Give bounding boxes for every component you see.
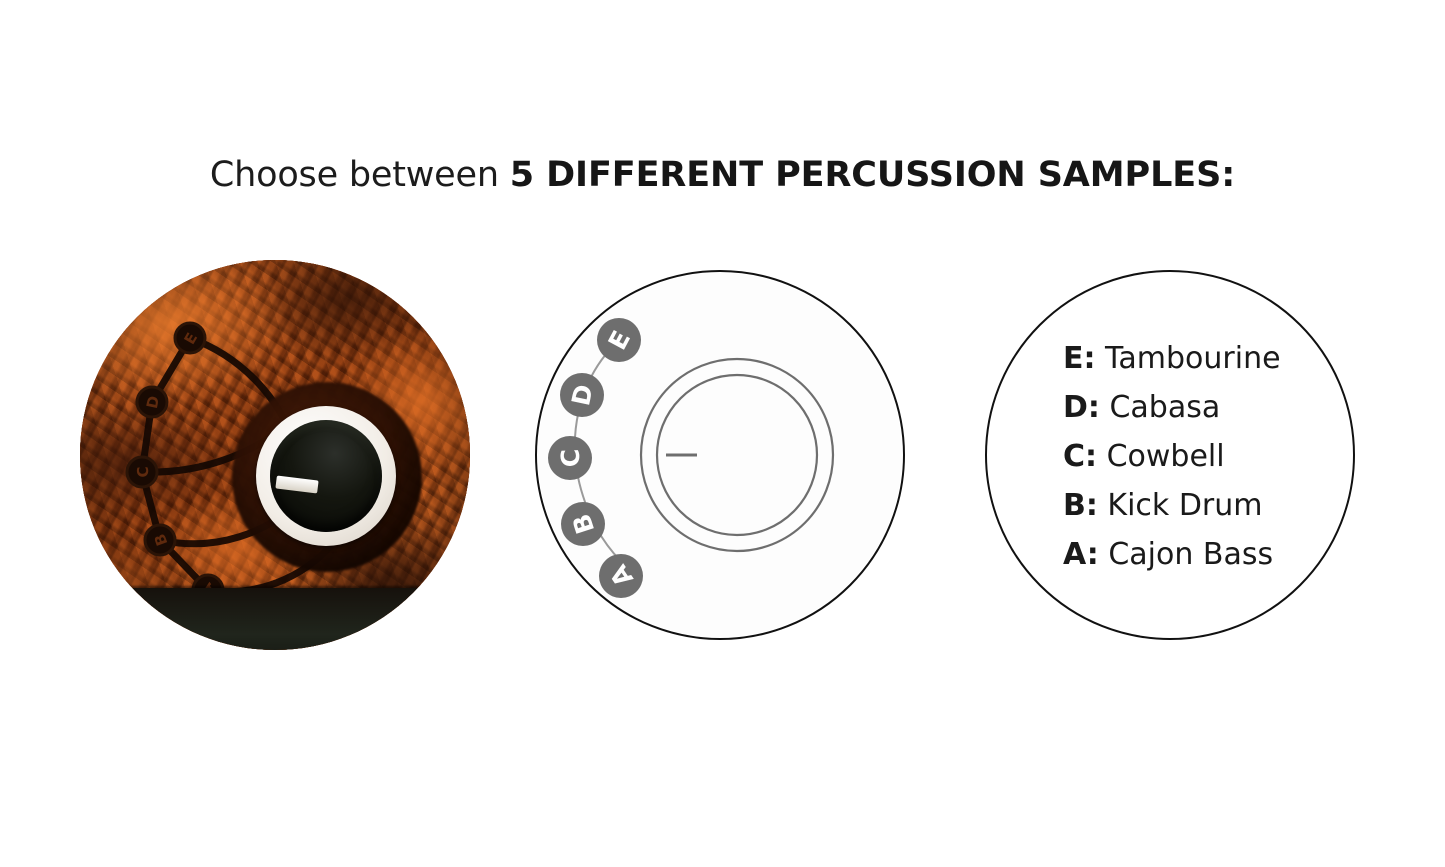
product-photo: E D C B A — [80, 260, 470, 650]
legend-key-c: C: — [1063, 439, 1097, 474]
legend-name-d: Cabasa — [1109, 390, 1220, 425]
photo-bottom-edge — [80, 588, 470, 650]
knob-schematic: E D C B A — [535, 270, 905, 640]
legend-list: E: Tambourine D: Cabasa C: Cowbell B: Ki… — [1063, 334, 1343, 579]
legend-item-d: D: Cabasa — [1063, 383, 1343, 432]
badge-d[interactable]: D — [560, 373, 604, 417]
schematic-drawing: E D C B A — [537, 272, 903, 638]
page-title: Choose between 5 DIFFERENT PERCUSSION SA… — [0, 158, 1445, 193]
legend-key-e: E: — [1063, 341, 1096, 376]
sample-legend: E: Tambourine D: Cabasa C: Cowbell B: Ki… — [985, 270, 1355, 640]
legend-item-c: C: Cowbell — [1063, 432, 1343, 481]
badge-c[interactable]: C — [548, 436, 592, 480]
legend-name-c: Cowbell — [1107, 439, 1225, 474]
badge-e[interactable]: E — [597, 318, 641, 362]
legend-item-b: B: Kick Drum — [1063, 481, 1343, 530]
legend-name-e: Tambourine — [1105, 341, 1281, 376]
badge-b[interactable]: B — [561, 502, 605, 546]
legend-item-a: A: Cajon Bass — [1063, 530, 1343, 579]
legend-key-a: A: — [1063, 537, 1099, 572]
badge-a[interactable]: A — [599, 554, 643, 598]
legend-key-d: D: — [1063, 390, 1100, 425]
legend-name-b: Kick Drum — [1107, 488, 1262, 523]
page-title-emphasis: 5 DIFFERENT PERCUSSION SAMPLES: — [510, 155, 1235, 195]
legend-key-b: B: — [1063, 488, 1098, 523]
legend-item-e: E: Tambourine — [1063, 334, 1343, 383]
badge-c-label: C — [556, 448, 586, 467]
legend-name-a: Cajon Bass — [1108, 537, 1273, 572]
page-title-lead: Choose between — [210, 155, 510, 195]
